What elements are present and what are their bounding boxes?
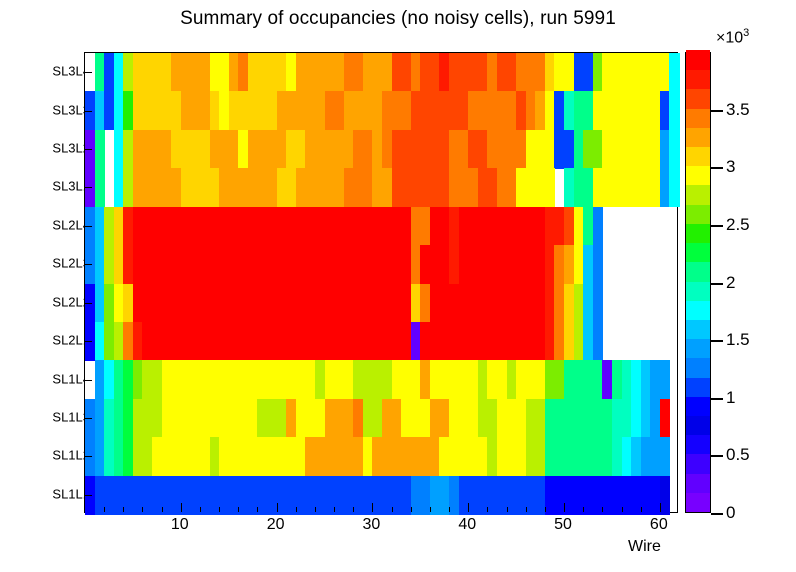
- color-scale-band: [686, 204, 710, 224]
- color-scale-tick: [711, 455, 723, 457]
- x-axis-tick: [296, 507, 297, 512]
- x-axis-tick-label: 30: [363, 516, 381, 534]
- x-axis-tick: [334, 507, 335, 512]
- x-axis-tick-label: 60: [650, 516, 668, 534]
- color-scale-band: [686, 435, 710, 455]
- color-scale-band: [686, 415, 710, 435]
- x-axis-tick: [181, 503, 182, 512]
- color-scale-band: [686, 166, 710, 186]
- exponent-mantissa: ×10: [716, 29, 743, 46]
- x-axis-tick: [622, 507, 623, 512]
- heatmap-cell: [660, 476, 670, 515]
- color-scale-band: [686, 339, 710, 359]
- heatmap-cell: [593, 207, 603, 246]
- x-axis-tick: [526, 507, 527, 512]
- x-axis-tick: [411, 507, 412, 512]
- y-axis-tick: [85, 456, 92, 457]
- x-axis-tick: [238, 507, 239, 512]
- heatmap-cell: [95, 130, 105, 169]
- color-scale-band: [686, 127, 710, 147]
- heatmap-cell: [669, 91, 679, 130]
- y-axis-tick: [85, 418, 92, 419]
- x-axis-tick: [142, 507, 143, 512]
- color-scale-bar[interactable]: [685, 52, 711, 513]
- color-scale-band: [686, 70, 710, 90]
- y-axis-tick: [85, 111, 92, 112]
- x-axis-tick: [602, 507, 603, 512]
- color-scale-tick-label: 1: [726, 388, 735, 408]
- heatmap-cells: [85, 53, 677, 512]
- color-scale-band: [686, 396, 710, 416]
- color-scale-tick: [711, 110, 723, 112]
- color-scale-band: [686, 300, 710, 320]
- x-axis-tick: [507, 507, 508, 512]
- x-axis-tick: [104, 507, 105, 512]
- y-axis-tick: [85, 187, 92, 188]
- color-scale-band: [686, 185, 710, 205]
- x-axis-tick: [660, 503, 661, 512]
- color-scale-band: [686, 262, 710, 282]
- x-axis-tick: [353, 507, 354, 512]
- x-axis-tick: [392, 507, 393, 512]
- color-scale-band: [686, 108, 710, 128]
- x-axis-tick: [583, 507, 584, 512]
- color-scale-tick: [711, 225, 723, 227]
- x-axis-title: Wire: [628, 538, 661, 556]
- x-axis-tick-label: 40: [458, 516, 476, 534]
- color-scale-tick: [711, 283, 723, 285]
- color-scale-tick-label: 1.5: [726, 330, 750, 350]
- y-axis-tick: [85, 264, 92, 265]
- color-scale-tick: [711, 340, 723, 342]
- y-axis-tick: [85, 380, 92, 381]
- color-scale-band: [686, 146, 710, 166]
- color-scale-tick-label: 0.5: [726, 445, 750, 465]
- x-axis-tick: [219, 507, 220, 512]
- color-scale-tick-label: 2.5: [726, 215, 750, 235]
- y-axis-tick: [85, 341, 92, 342]
- x-axis-tick: [564, 503, 565, 512]
- x-axis-tick: [487, 507, 488, 512]
- heatmap-cell: [95, 168, 105, 207]
- heatmap-cell: [669, 168, 679, 207]
- y-axis-tick: [85, 303, 92, 304]
- heatmap-cell: [669, 53, 679, 92]
- x-axis-tick: [449, 507, 450, 512]
- x-axis-tick: [641, 507, 642, 512]
- heatmap-cell: [660, 437, 670, 476]
- color-scale-tick-label: 0: [726, 503, 735, 523]
- x-axis-tick: [545, 507, 546, 512]
- color-scale-band: [686, 319, 710, 339]
- x-axis-tick: [315, 507, 316, 512]
- heatmap-cell: [660, 399, 670, 438]
- y-axis-tick: [85, 495, 92, 496]
- x-axis-tick: [468, 503, 469, 512]
- color-scale-tick-label: 2: [726, 273, 735, 293]
- x-axis-tick: [200, 507, 201, 512]
- color-scale-band: [686, 492, 710, 512]
- color-scale-band: [686, 243, 710, 263]
- x-axis-tick-label: 10: [171, 516, 189, 534]
- color-scale-band: [686, 223, 710, 243]
- y-axis-tick: [85, 72, 92, 73]
- heatmap-cell: [669, 130, 679, 169]
- color-scale-tick: [711, 513, 723, 515]
- x-axis-tick: [430, 507, 431, 512]
- x-axis-tick: [162, 507, 163, 512]
- color-scale-band: [686, 454, 710, 474]
- color-scale-band: [686, 473, 710, 493]
- color-scale-exponent: ×103: [716, 27, 749, 47]
- exponent-power: 3: [743, 27, 749, 39]
- x-axis-tick-label: 20: [267, 516, 285, 534]
- color-scale-tick: [711, 398, 723, 400]
- heatmap-cell: [593, 284, 603, 323]
- page-title: Summary of occupancies (no noisy cells),…: [0, 8, 796, 30]
- heatmap-cell: [660, 360, 670, 399]
- root-canvas: Summary of occupancies (no noisy cells),…: [0, 0, 796, 572]
- x-axis-tick: [257, 507, 258, 512]
- color-scale-band: [686, 281, 710, 301]
- color-scale-band: [686, 50, 710, 70]
- y-axis-tick: [85, 226, 92, 227]
- color-scale-band: [686, 358, 710, 378]
- x-axis-tick: [123, 507, 124, 512]
- color-scale-tick-label: 3: [726, 157, 735, 177]
- color-scale-band: [686, 89, 710, 109]
- color-scale-tick-label: 3.5: [726, 100, 750, 120]
- x-axis-tick-label: 50: [554, 516, 572, 534]
- y-axis-tick: [85, 149, 92, 150]
- color-scale-tick: [711, 167, 723, 169]
- heatmap-cell: [593, 322, 603, 361]
- color-scale-band: [686, 377, 710, 397]
- heatmap-cell: [593, 245, 603, 284]
- x-axis-tick: [277, 503, 278, 512]
- heatmap-plot-area[interactable]: [84, 52, 678, 513]
- x-axis-tick: [372, 503, 373, 512]
- heatmap-cell: [545, 168, 555, 207]
